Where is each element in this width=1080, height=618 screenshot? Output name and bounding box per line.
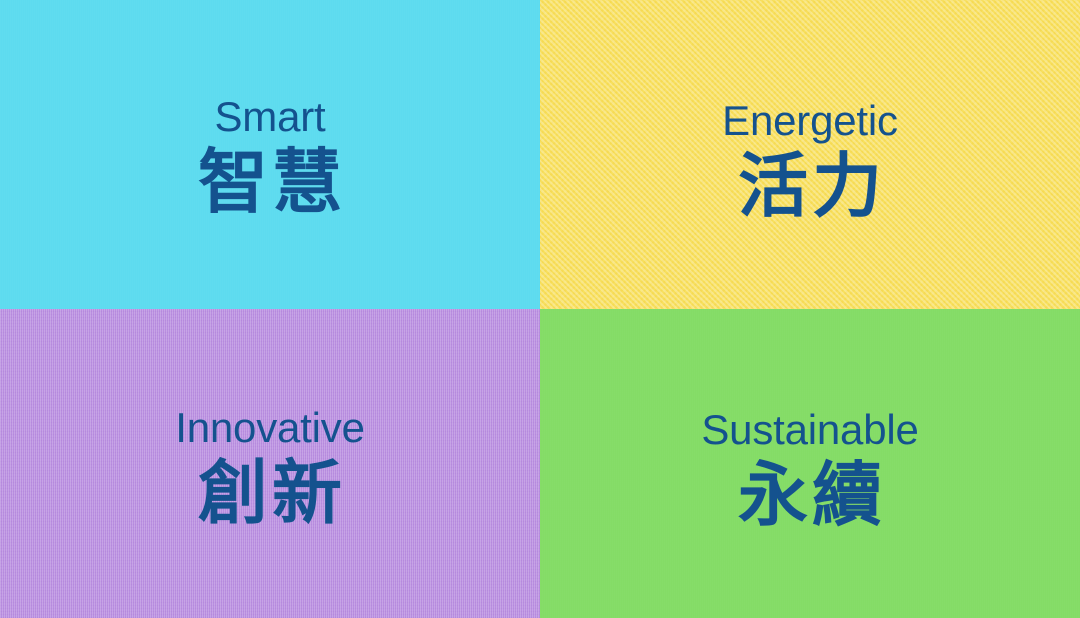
quadrant-energetic: Energetic 活力 — [540, 0, 1080, 309]
value-label-english-sustainable: Sustainable — [701, 409, 918, 452]
value-label-stack-energetic: Energetic 活力 — [722, 100, 898, 224]
value-label-chinese-innovative: 創新 — [194, 456, 346, 532]
value-label-stack-innovative: Innovative 創新 — [175, 407, 364, 531]
value-label-stack-smart: Smart 智慧 — [194, 96, 346, 220]
quadrant-smart: Smart 智慧 — [0, 0, 540, 309]
value-label-chinese-sustainable: 永續 — [734, 458, 886, 534]
value-label-english-innovative: Innovative — [175, 407, 364, 450]
value-label-chinese-energetic: 活力 — [734, 149, 886, 225]
value-label-english-smart: Smart — [214, 96, 325, 139]
value-label-stack-sustainable: Sustainable 永續 — [701, 409, 918, 533]
quadrant-sustainable: Sustainable 永續 — [540, 309, 1080, 618]
value-label-chinese-smart: 智慧 — [194, 145, 346, 221]
value-label-english-energetic: Energetic — [722, 100, 898, 143]
quadrant-innovative: Innovative 創新 — [0, 309, 540, 618]
brand-values-poster: Smart 智慧 Energetic 活力 Innovative 創新 Sust… — [0, 0, 1080, 618]
